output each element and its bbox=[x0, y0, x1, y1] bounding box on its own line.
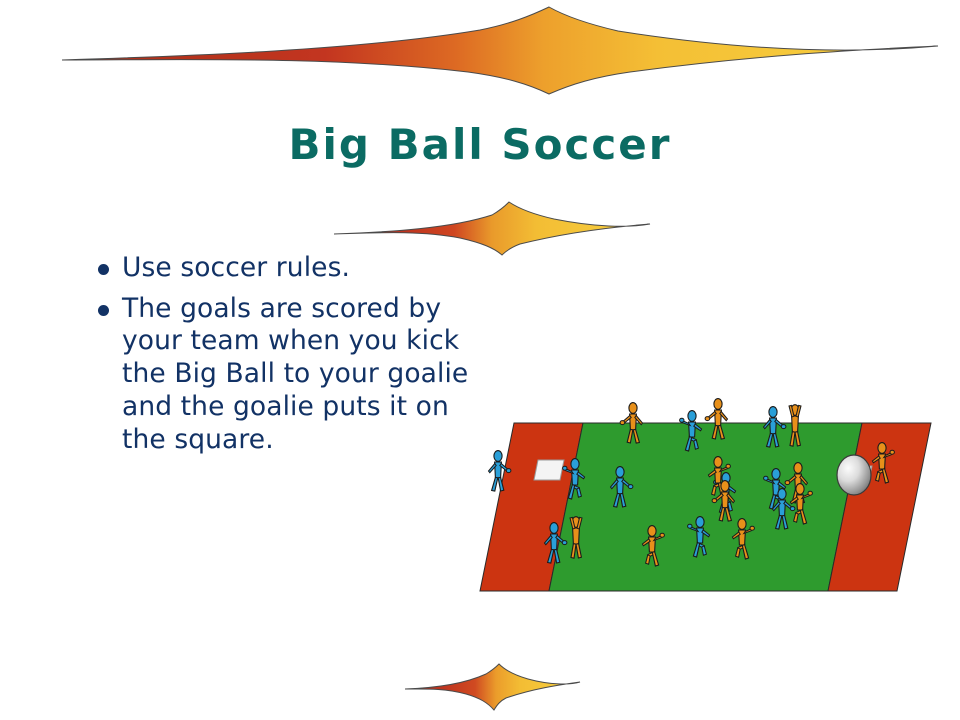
bullet-dot-icon bbox=[98, 305, 109, 316]
list-item: The goals are scored by your team when y… bbox=[98, 293, 528, 457]
diamond-ornament-top bbox=[60, 4, 940, 96]
slide-canvas: Big Ball Soccer Use soccer rules. bbox=[0, 0, 960, 720]
bullet-list: Use soccer rules. The goals are scored b… bbox=[98, 252, 528, 464]
big-ball bbox=[837, 455, 871, 495]
list-item: Use soccer rules. bbox=[98, 252, 528, 285]
diamond-ornament-middle bbox=[332, 200, 652, 256]
soccer-field-illustration bbox=[470, 376, 950, 616]
goal-square-left bbox=[534, 460, 564, 480]
playing-area bbox=[549, 423, 862, 591]
bullet-dot-icon bbox=[98, 264, 109, 275]
page-title: Big Ball Soccer bbox=[0, 122, 960, 168]
bullet-text-1: Use soccer rules. bbox=[122, 252, 528, 285]
diamond-ornament-bottom bbox=[402, 662, 582, 712]
field-surface bbox=[480, 423, 931, 591]
bullet-text-2: The goals are scored by your team when y… bbox=[122, 293, 494, 457]
